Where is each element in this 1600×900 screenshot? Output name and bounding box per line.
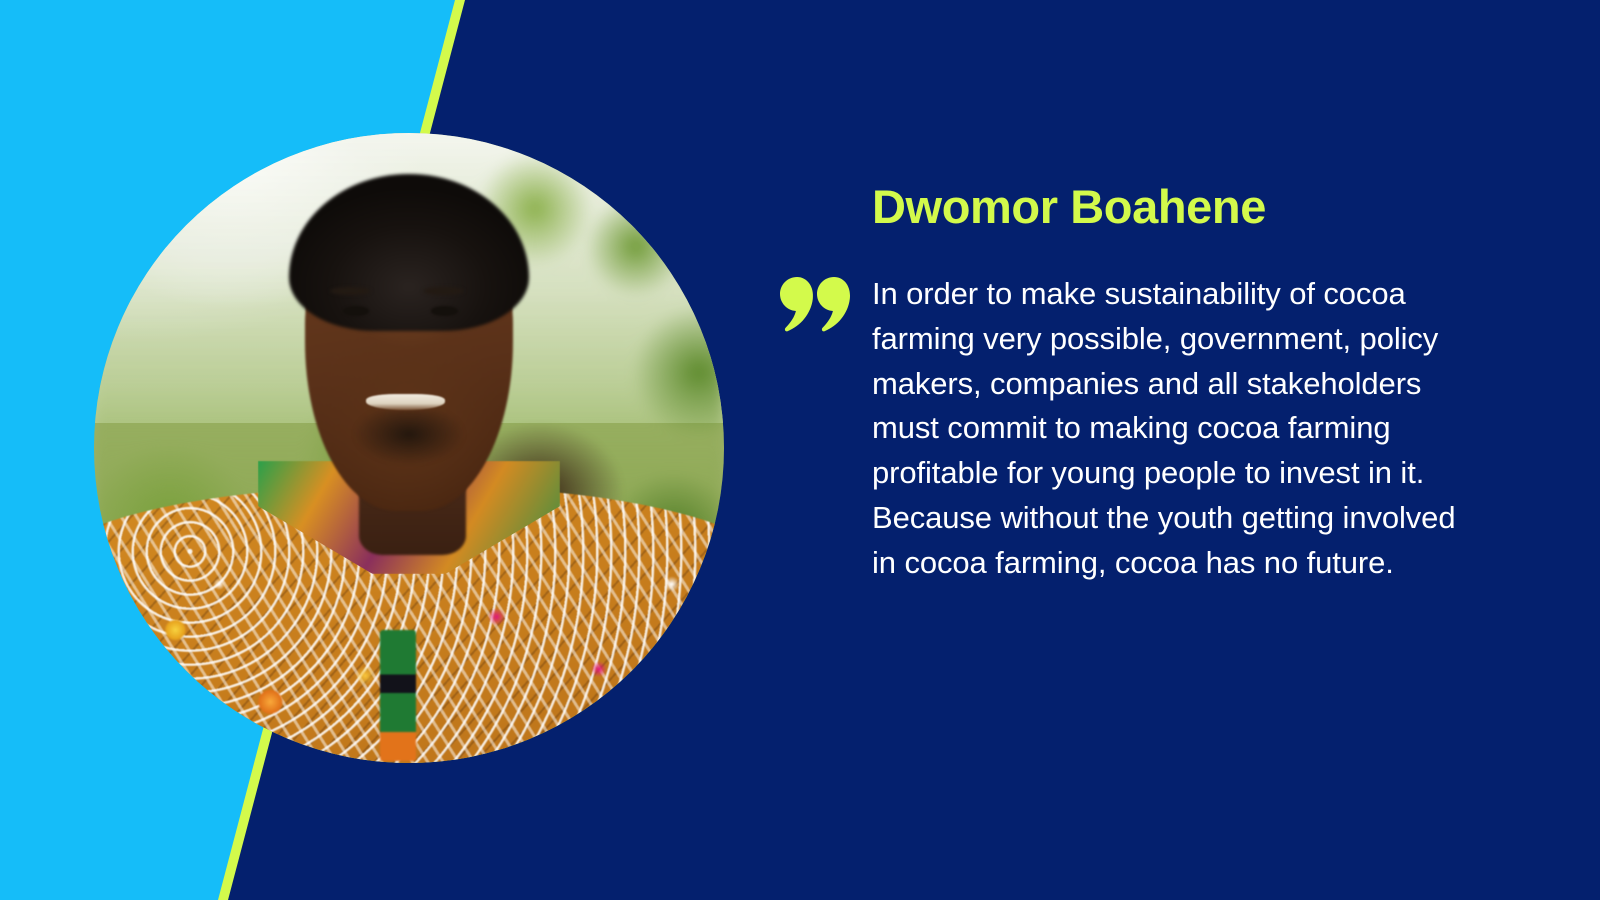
portrait-avatar (94, 133, 724, 763)
portrait-photo (94, 133, 724, 763)
photo-eye-left (343, 306, 369, 315)
photo-eyebrow-right (423, 287, 464, 295)
testimonial-slide: Dwomor Boahene In order to make sustaina… (0, 0, 1600, 900)
quote-block: In order to make sustainability of cocoa… (872, 272, 1472, 586)
speaker-name: Dwomor Boahene (872, 181, 1266, 233)
quote-text: In order to make sustainability of cocoa… (872, 272, 1472, 586)
photo-beard (346, 410, 472, 479)
double-quote-icon (780, 277, 850, 333)
photo-eyebrow-left (330, 287, 371, 295)
photo-eye-right (431, 306, 457, 315)
